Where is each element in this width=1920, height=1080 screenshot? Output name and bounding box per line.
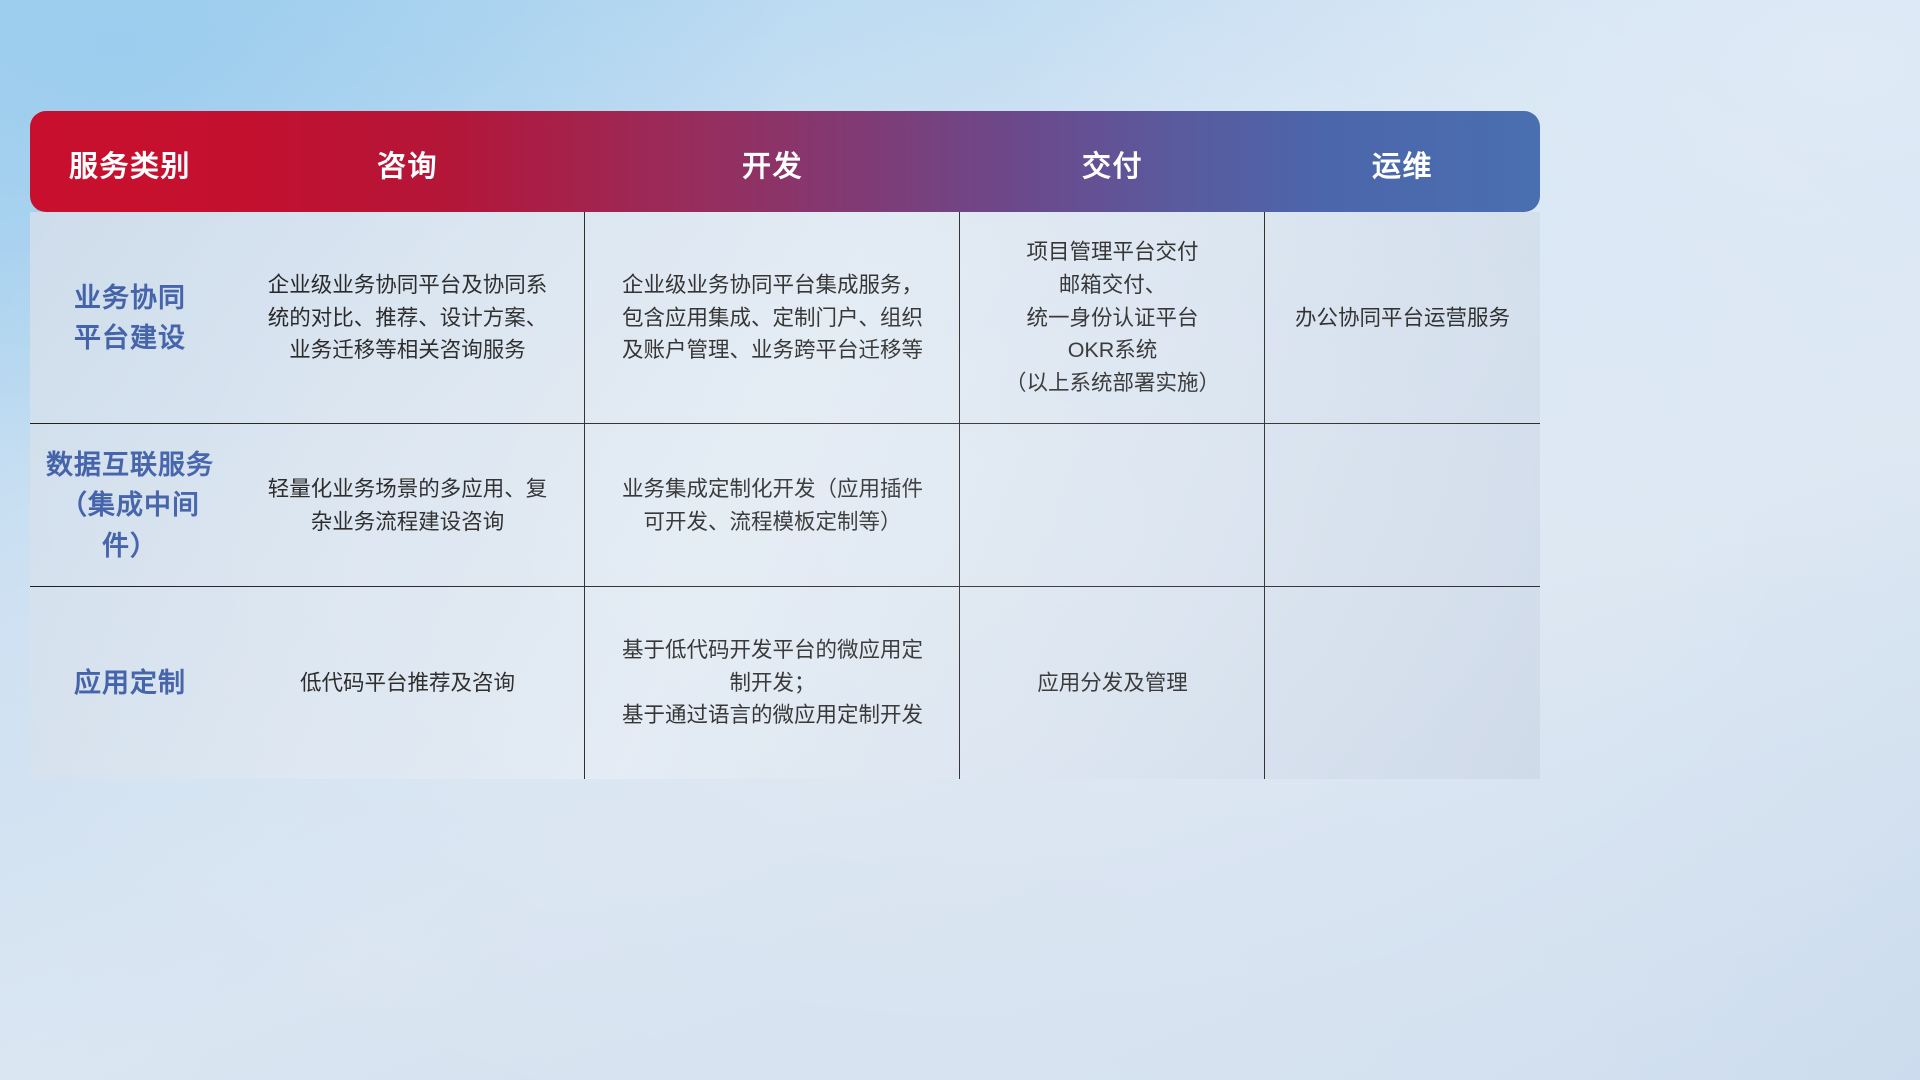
- cell-data-interconnect-delivery: [960, 424, 1265, 587]
- header-label-delivery: 交付: [1082, 143, 1143, 185]
- header-cell-development: 开发: [585, 111, 960, 212]
- cell-business-collaboration-delivery: 项目管理平台交付 邮箱交付、 统一身份认证平台 OKR系统 （以上系统部署实施）: [960, 212, 1265, 424]
- header-label-operations: 运维: [1372, 143, 1433, 185]
- cell-data-interconnect-consulting: 轻量化业务场景的多应用、复 杂业务流程建设咨询: [230, 424, 585, 587]
- row-label-app-customization: 应用定制: [30, 587, 230, 779]
- row-label-data-interconnect: 数据互联服务 （集成中间件）: [30, 424, 230, 587]
- header-label-consulting: 咨询: [377, 143, 438, 185]
- cell-data-interconnect-operations: [1265, 424, 1540, 587]
- table-header-row: 服务类别 咨询 开发 交付 运维: [30, 111, 1540, 212]
- table-row: 业务协同 平台建设 企业级业务协同平台及协同系 统的对比、推荐、设计方案、 业务…: [30, 212, 1540, 424]
- header-cell-operations: 运维: [1265, 111, 1540, 212]
- header-cell-delivery: 交付: [960, 111, 1265, 212]
- cell-business-collaboration-consulting: 企业级业务协同平台及协同系 统的对比、推荐、设计方案、 业务迁移等相关咨询服务: [230, 212, 585, 424]
- cell-app-customization-operations: [1265, 587, 1540, 779]
- header-label-development: 开发: [742, 143, 803, 185]
- cell-business-collaboration-development: 企业级业务协同平台集成服务， 包含应用集成、定制门户、组织 及账户管理、业务跨平…: [585, 212, 960, 424]
- table-row: 数据互联服务 （集成中间件） 轻量化业务场景的多应用、复 杂业务流程建设咨询 业…: [30, 424, 1540, 587]
- header-label-service-category: 服务类别: [69, 143, 191, 185]
- cell-app-customization-consulting: 低代码平台推荐及咨询: [230, 587, 585, 779]
- cell-app-customization-delivery: 应用分发及管理: [960, 587, 1265, 779]
- table-body: 业务协同 平台建设 企业级业务协同平台及协同系 统的对比、推荐、设计方案、 业务…: [30, 212, 1540, 779]
- row-label-business-collaboration: 业务协同 平台建设: [30, 212, 230, 424]
- cell-data-interconnect-development: 业务集成定制化开发（应用插件 可开发、流程模板定制等）: [585, 424, 960, 587]
- header-cell-service-category: 服务类别: [30, 111, 230, 212]
- table-row: 应用定制 低代码平台推荐及咨询 基于低代码开发平台的微应用定 制开发； 基于通过…: [30, 587, 1540, 779]
- slide-root: { "table": { "headers": [ { "id": "servi…: [0, 0, 1920, 1080]
- cell-business-collaboration-operations: 办公协同平台运营服务: [1265, 212, 1540, 424]
- cell-app-customization-development: 基于低代码开发平台的微应用定 制开发； 基于通过语言的微应用定制开发: [585, 587, 960, 779]
- header-cell-consulting: 咨询: [230, 111, 585, 212]
- service-matrix-table: 服务类别 咨询 开发 交付 运维 业务协同 平台建设 企业级业务协同平台及协同系…: [30, 111, 1540, 779]
